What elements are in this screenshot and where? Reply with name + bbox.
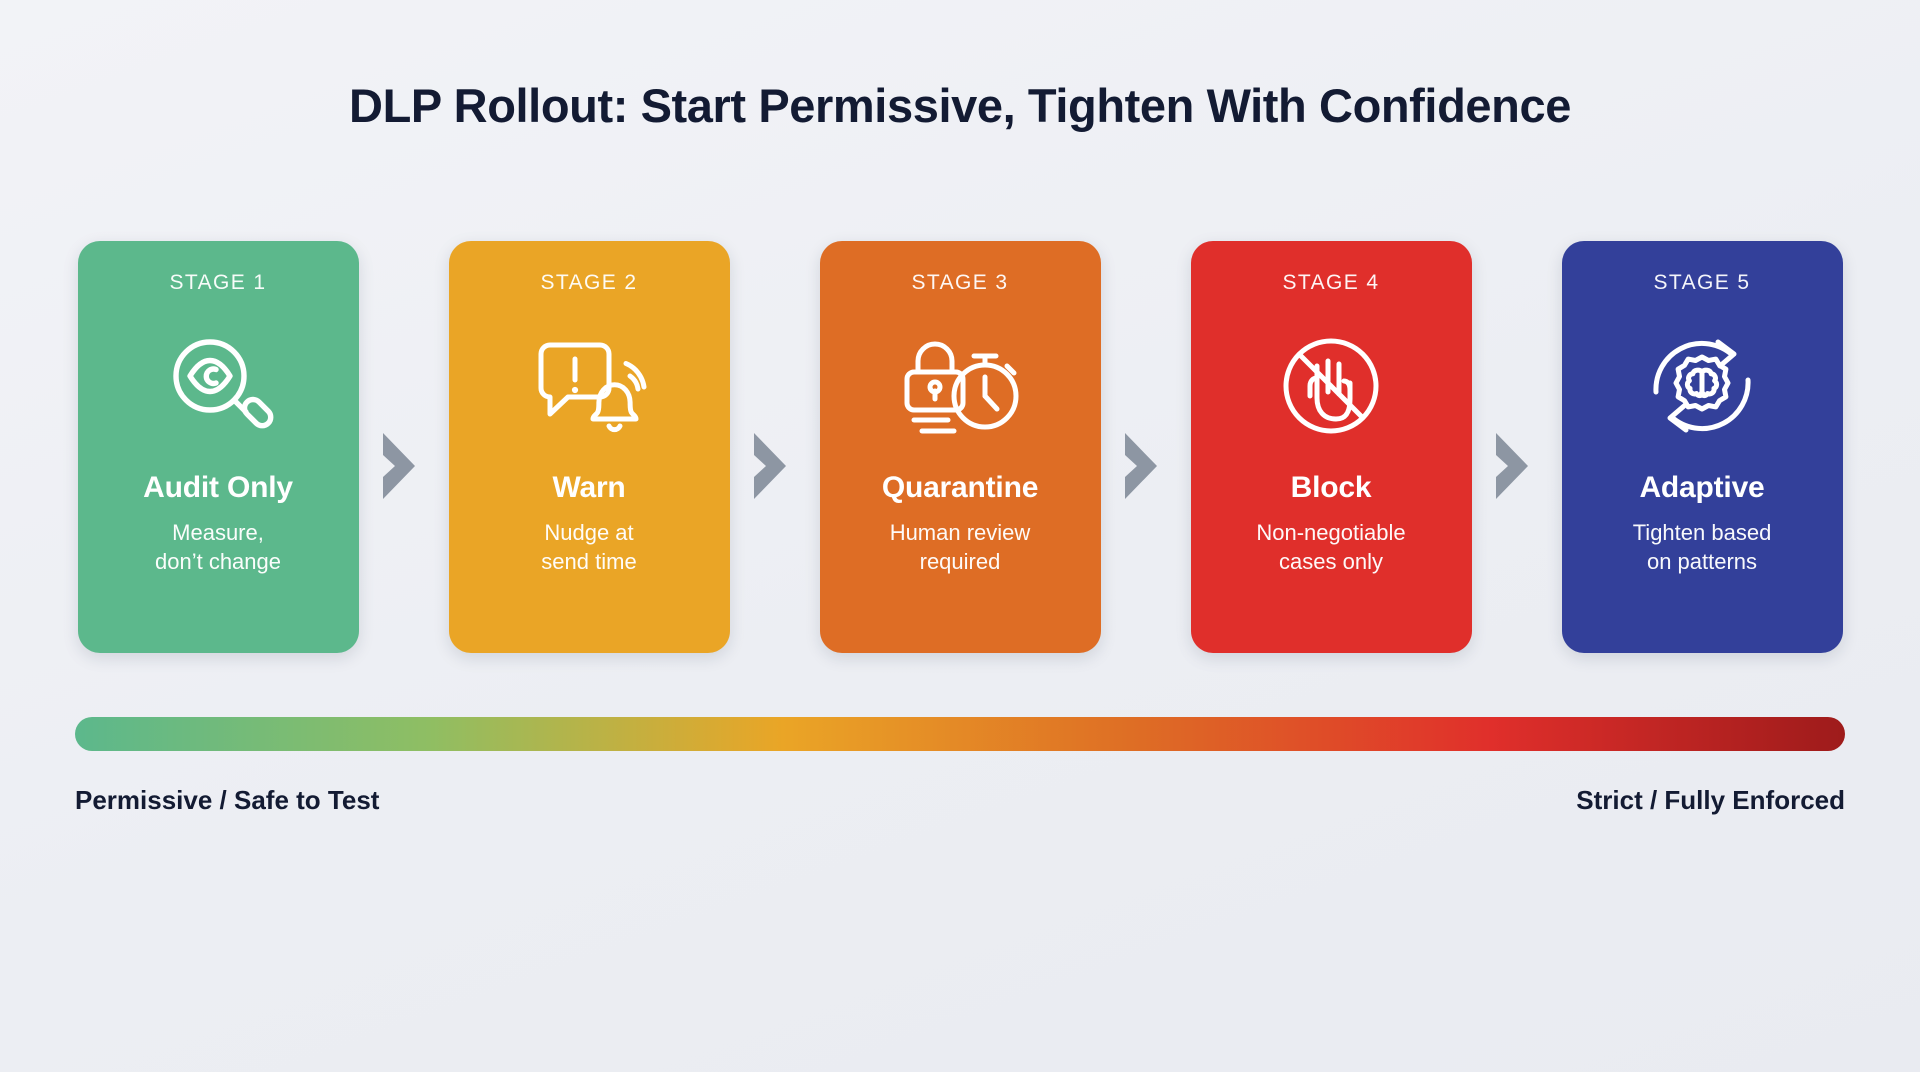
enforcement-scale: Permissive / Safe to Test Strict / Fully… xyxy=(75,717,1845,816)
stage-name: Quarantine xyxy=(882,471,1038,505)
gear-brain-refresh-icon xyxy=(1642,311,1762,461)
stage-card-warn[interactable]: STAGE 2 Warn Nudge at send time xyxy=(449,241,730,653)
stage-number-label: STAGE 3 xyxy=(912,271,1009,295)
stage-card-quarantine[interactable]: STAGE 3 Quarantine Human xyxy=(820,241,1101,653)
chevron-right-icon xyxy=(1472,433,1562,499)
scale-left-label: Permissive / Safe to Test xyxy=(75,785,379,816)
chevron-right-icon xyxy=(730,433,820,499)
stage-name: Audit Only xyxy=(143,471,293,505)
stage-description: Tighten based on patterns xyxy=(1633,518,1772,576)
stage-number-label: STAGE 4 xyxy=(1283,271,1380,295)
stage-description: Human review required xyxy=(890,518,1031,576)
chevron-right-icon xyxy=(359,433,449,499)
stage-card-block[interactable]: STAGE 4 Block Non-negotiable cases only xyxy=(1191,241,1472,653)
stage-name: Adaptive xyxy=(1639,471,1764,505)
stage-description: Nudge at send time xyxy=(541,518,636,576)
stage-row: STAGE 1 Audit Only Measure, don’t change… xyxy=(75,241,1845,653)
stage-card-audit-only[interactable]: STAGE 1 Audit Only Measure, don’t change xyxy=(78,241,359,653)
lock-stopwatch-icon xyxy=(896,311,1024,461)
alert-bubble-bell-icon xyxy=(527,311,651,461)
stage-description: Measure, don’t change xyxy=(155,518,281,576)
stage-name: Warn xyxy=(552,471,625,505)
stage-number-label: STAGE 2 xyxy=(541,271,638,295)
stage-description: Non-negotiable cases only xyxy=(1256,518,1405,576)
stage-card-adaptive[interactable]: STAGE 5 Adaptive Tighten based on patter… xyxy=(1562,241,1843,653)
gradient-bar xyxy=(75,717,1845,751)
magnifier-eye-icon xyxy=(160,311,276,461)
chevron-right-icon xyxy=(1101,433,1191,499)
infographic-canvas: DLP Rollout: Start Permissive, Tighten W… xyxy=(0,0,1920,1072)
no-hand-icon xyxy=(1273,311,1389,461)
stage-name: Block xyxy=(1291,471,1372,505)
scale-right-label: Strict / Fully Enforced xyxy=(1576,785,1845,816)
scale-label-row: Permissive / Safe to Test Strict / Fully… xyxy=(75,785,1845,816)
stage-number-label: STAGE 1 xyxy=(170,271,267,295)
stage-number-label: STAGE 5 xyxy=(1654,271,1751,295)
page-title: DLP Rollout: Start Permissive, Tighten W… xyxy=(349,78,1571,133)
